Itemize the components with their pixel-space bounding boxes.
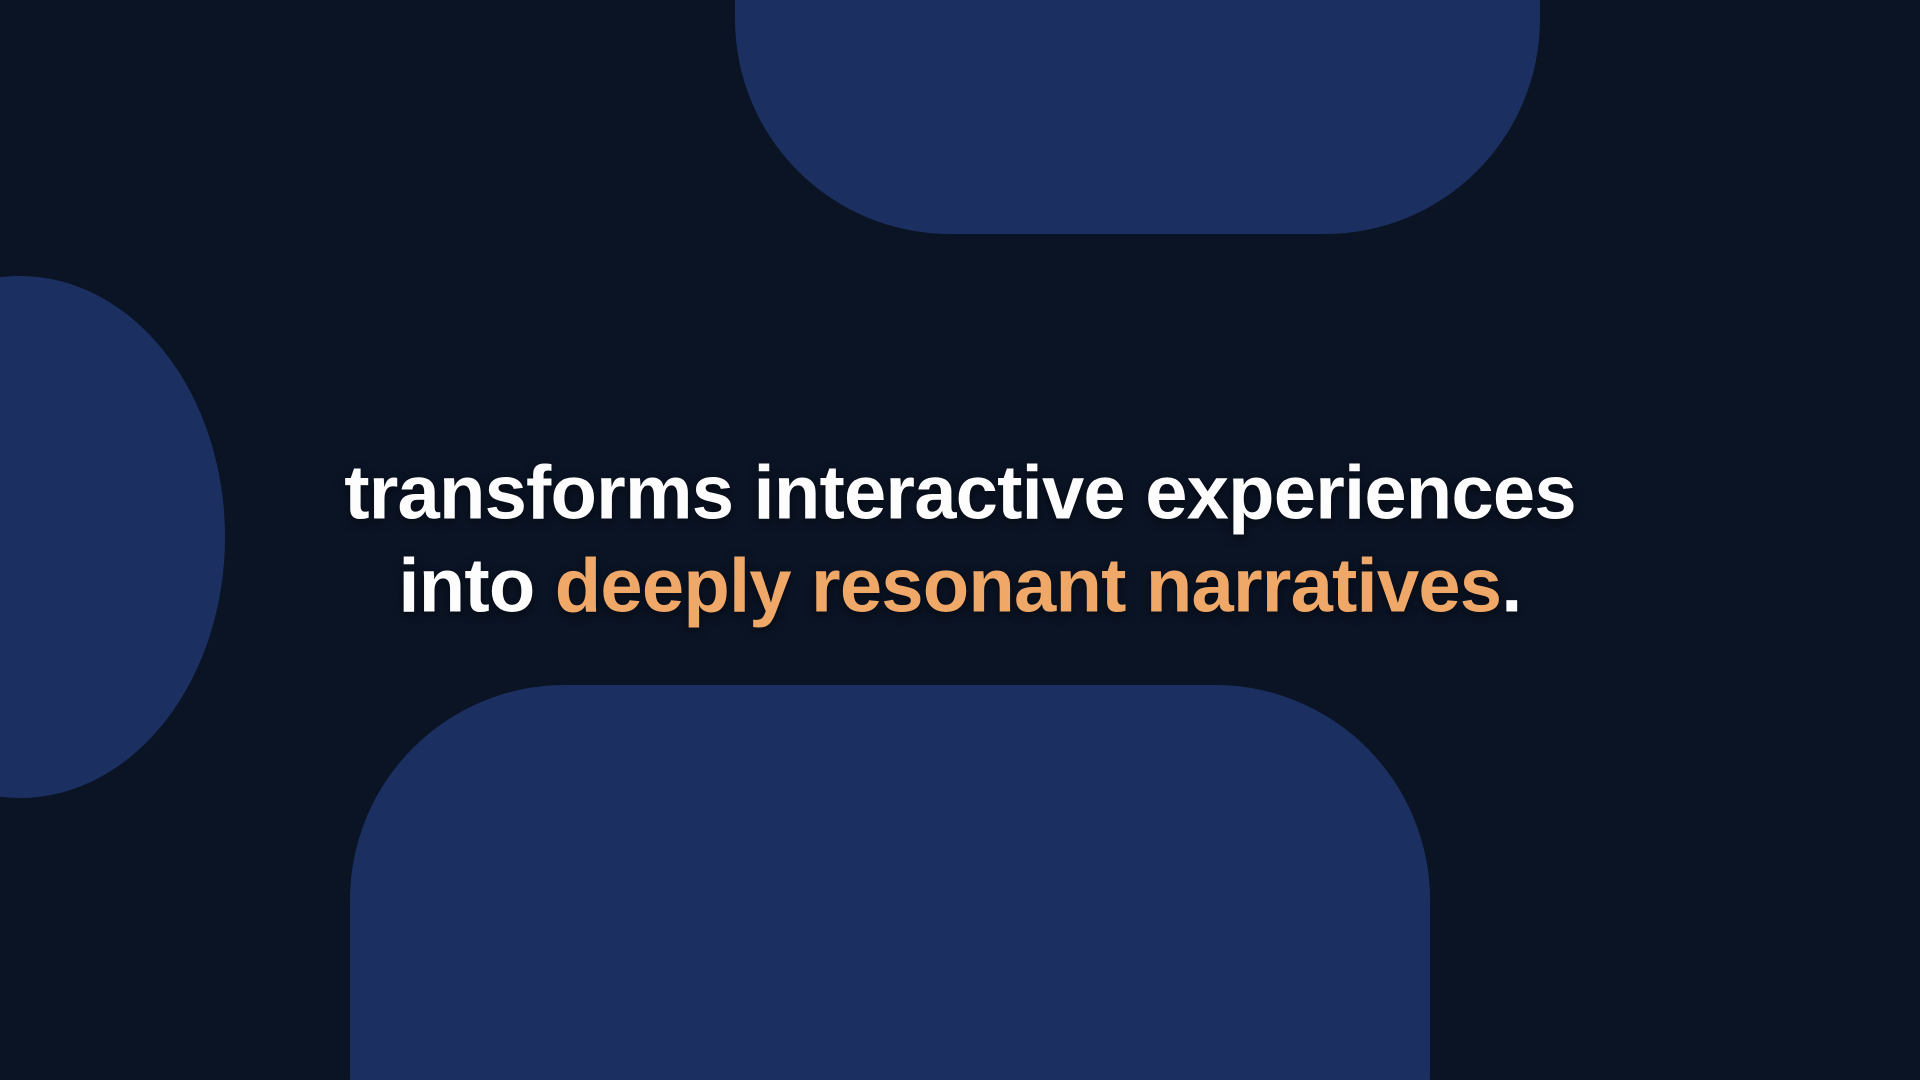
caption-line-1: transforms interactive experiences [90,447,1830,540]
caption-block: transforms interactive experiences into … [0,447,1920,632]
caption-line-2-highlight: deeply resonant narratives [555,543,1502,628]
decorative-shape-top [735,0,1540,234]
slide-canvas: transforms interactive experiences into … [0,0,1920,1080]
caption-line-2-period: . [1501,543,1521,628]
caption-line-2-prefix: into [398,543,554,628]
decorative-shape-bottom [350,685,1430,1080]
caption-line-2: into deeply resonant narratives. [90,540,1830,633]
